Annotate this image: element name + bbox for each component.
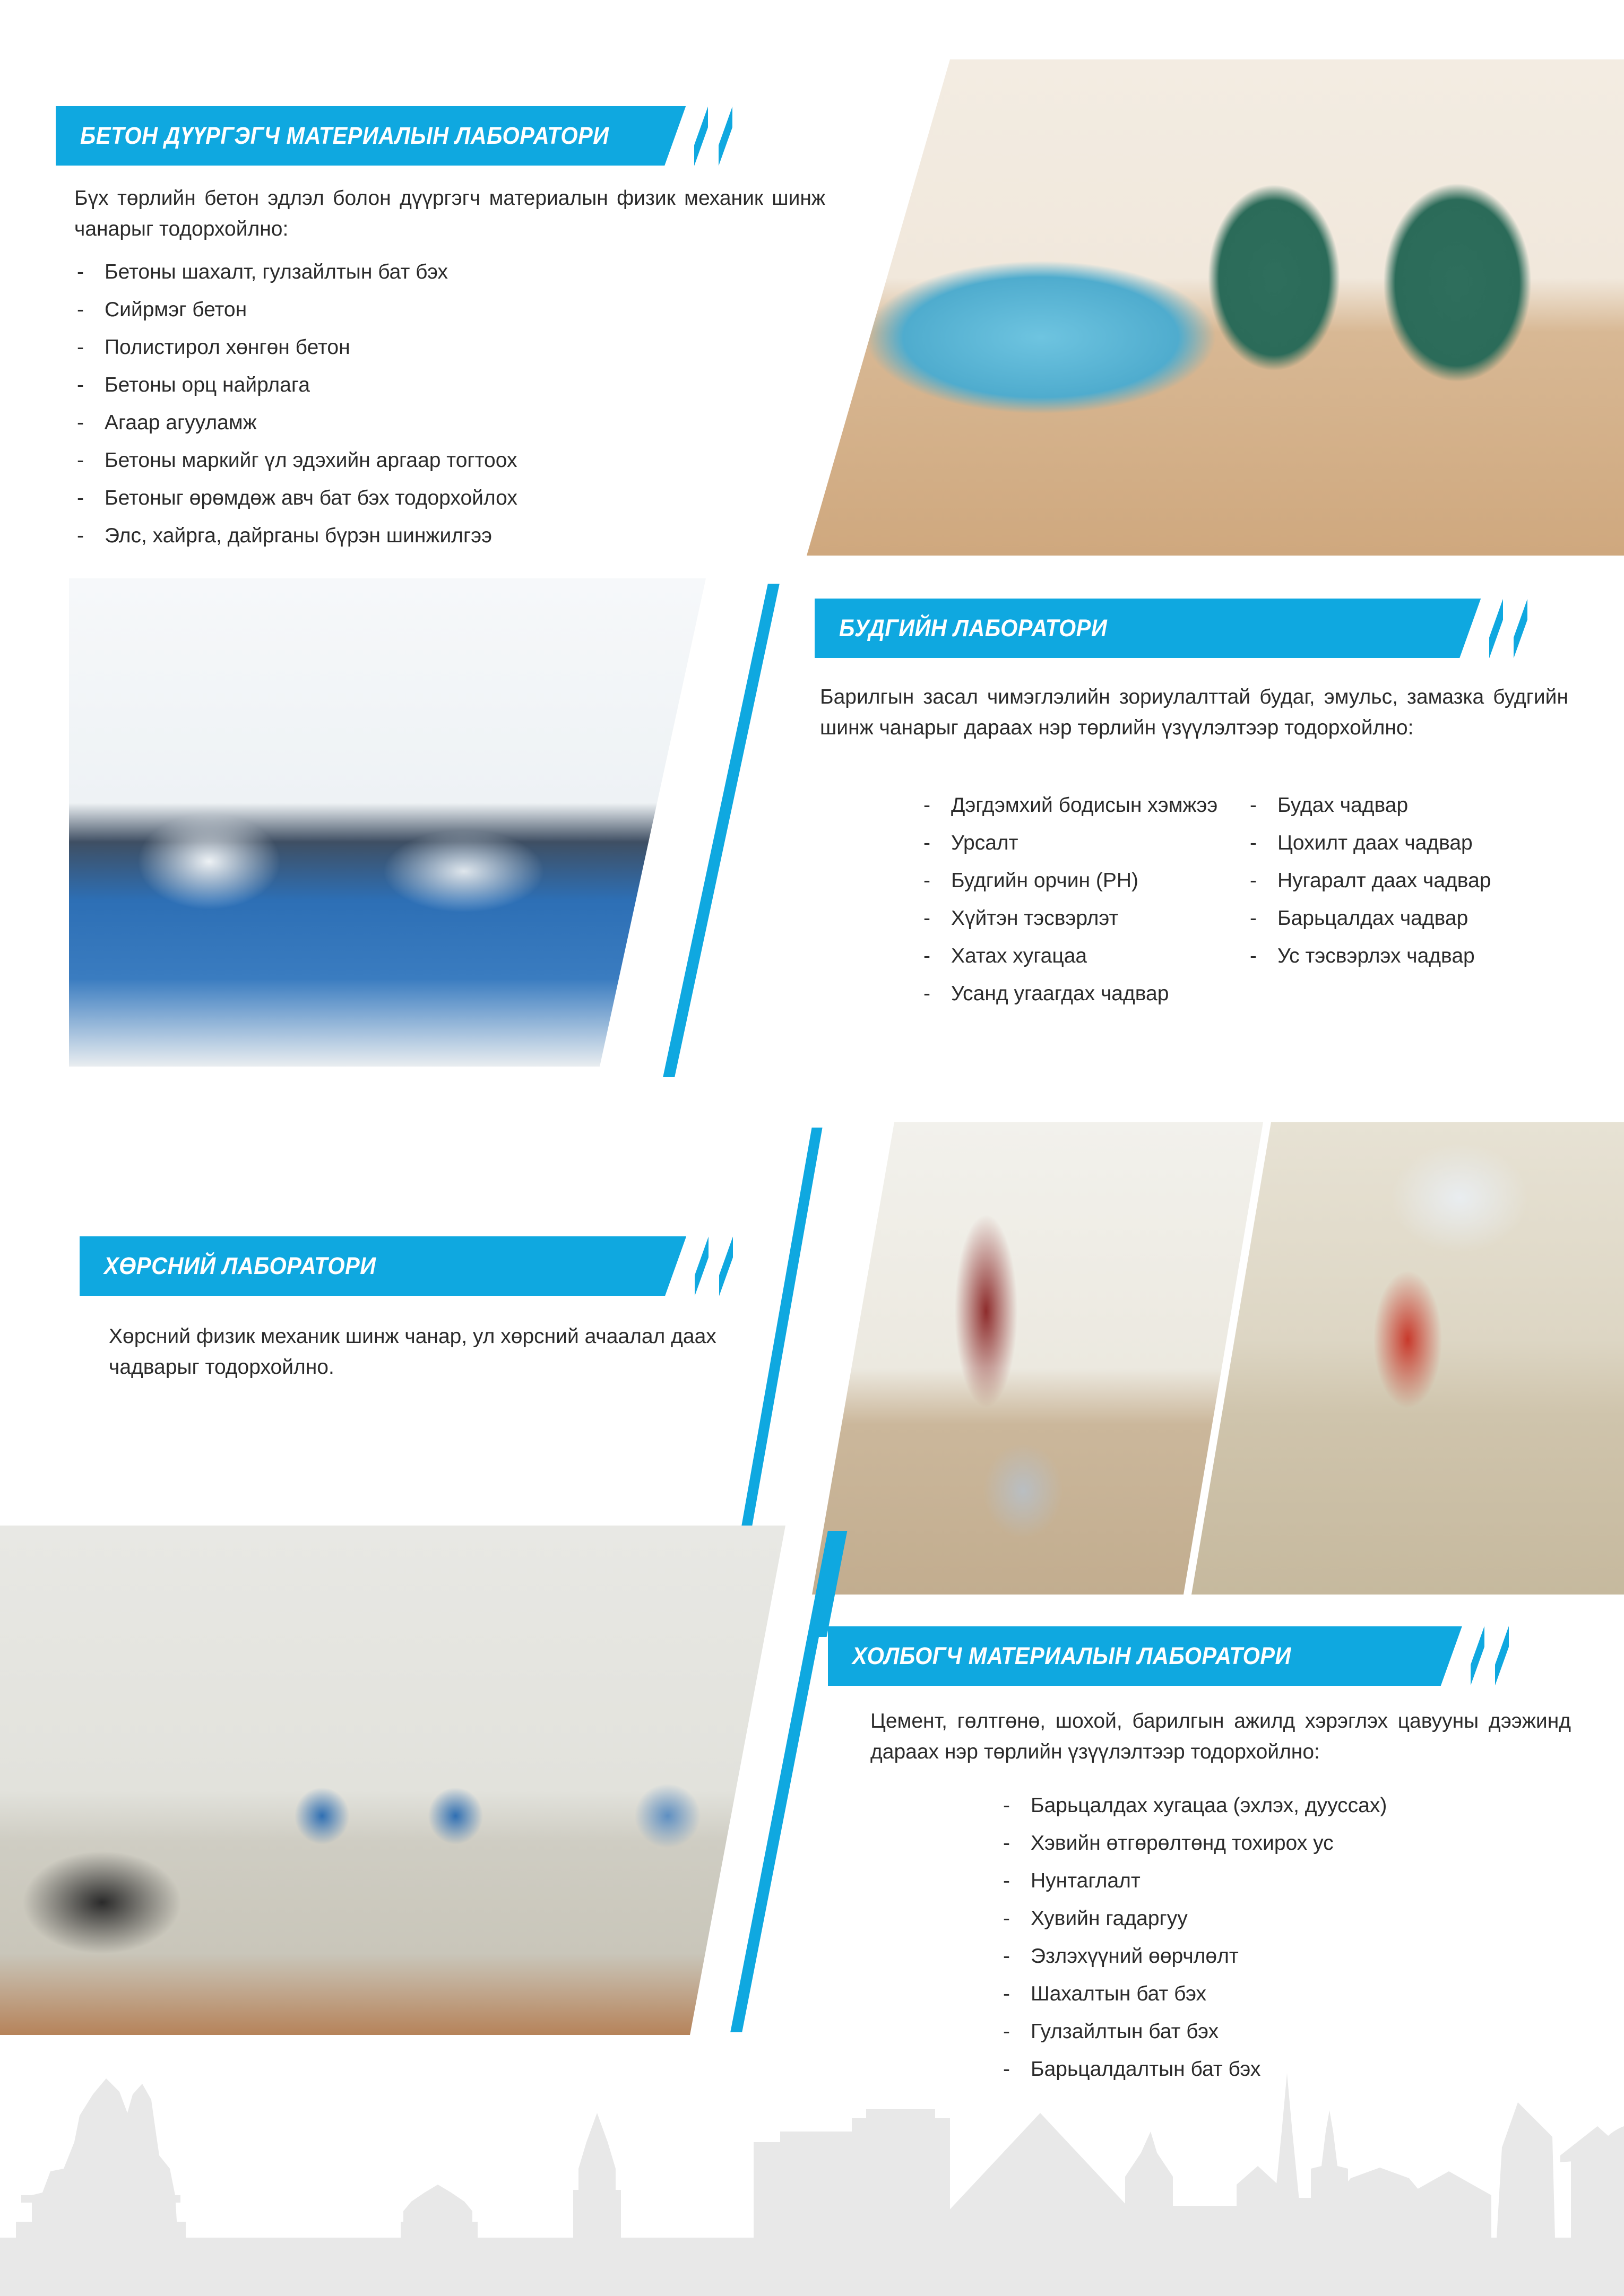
list-item: -Хүйтэн тэсвэрлэт [923,904,1237,934]
bullet-marker: - [1003,1904,1031,1934]
bullet-marker: - [923,941,951,972]
bullet-marker: - [77,257,105,288]
bullet-marker: - [77,521,105,551]
section-header-concrete: БЕТОН ДҮҮРГЭГЧ МАТЕРИАЛЫН ЛАБОРАТОРИ [56,106,732,166]
list-item-label: Хатах хугацаа [951,941,1237,972]
list-item: -Дэгдэмхий бодисын хэмжээ [923,791,1237,821]
soil-lab-photo-left [801,1122,1263,1595]
list-item: -Агаар агууламж [77,408,820,438]
binder-lab-photo [0,1526,785,2035]
list-item: -Бетоныг өрөмдөж авч бат бэх тодорхойлох [77,483,820,514]
list-item: -Усанд угаагдах чадвар [923,979,1237,1009]
soil-lab-photo-left-image [801,1122,1263,1595]
list-item: -Бетоны маркийг үл эдэхийн аргаар тогтоо… [77,446,820,476]
list-item: -Эзлэхүүний өөрчлөлт [1003,1942,1576,1972]
list-item-label: Сийрмэг бетон [105,295,820,325]
list-item: -Хэвийн өтгөрөлтөнд тохирох ус [1003,1829,1576,1859]
bullet-marker: - [1003,1791,1031,1821]
list-item-label: Шахалтын бат бэх [1031,1979,1576,2009]
bullet-marker: - [1250,791,1277,821]
bullet-marker: - [923,866,951,896]
list-item-label: Нунтаглалт [1031,1866,1576,1896]
binder-bullet-list: -Барьцалдах хугацаа (эхлэх, дууссах) -Хэ… [1003,1791,1576,2092]
section-title-concrete: БЕТОН ДҮҮРГЭГЧ МАТЕРИАЛЫН ЛАБОРАТОРИ [80,122,609,150]
bullet-marker: - [1003,1942,1031,1972]
concrete-intro-text: Бүх төрлийн бетон эдлэл болон дүүргэгч м… [74,183,825,244]
bullet-marker: - [923,828,951,859]
list-item: -Элс, хайрга, дайрганы бүрэн шинжилгээ [77,521,820,551]
section-header-bar: БУДГИЙН ЛАБОРАТОРИ [815,599,1481,658]
bullet-marker: - [1250,866,1277,896]
list-item: -Бетоны орц найрлага [77,370,820,401]
list-item-label: Бетоны шахалт, гулзайлтын бат бэх [105,257,820,288]
list-item: -Бетоны шахалт, гулзайлтын бат бэх [77,257,820,288]
list-item: -Нугаралт даах чадвар [1250,866,1568,896]
list-item: -Будгийн орчин (PH) [923,866,1237,896]
binder-lab-photo-image [0,1526,785,2035]
ulaanbaatar-skyline-silhouette [0,2063,1624,2296]
list-item-label: Бетоныг өрөмдөж авч бат бэх тодорхойлох [105,483,820,514]
list-item-label: Барьцалдах чадвар [1277,904,1568,934]
concrete-bullet-list: -Бетоны шахалт, гулзайлтын бат бэх -Сийр… [77,257,820,559]
list-item-label: Хэвийн өтгөрөлтөнд тохирох ус [1031,1829,1576,1859]
concrete-lab-photo [791,59,1624,556]
soil-lab-photo-right [1191,1122,1624,1595]
list-item: -Шахалтын бат бэх [1003,1979,1576,2009]
section-title-paint: БУДГИЙН ЛАБОРАТОРИ [839,614,1107,642]
brochure-page: БЕТОН ДҮҮРГЭГЧ МАТЕРИАЛЫН ЛАБОРАТОРИ Бүх… [0,0,1624,2296]
list-item: -Барьцалдах чадвар [1250,904,1568,934]
list-item: -Гулзайлтын бат бэх [1003,2017,1576,2047]
bullet-marker: - [1250,828,1277,859]
paint-intro-text: Барилгын засал чимэглэлийн зориулалттай … [820,682,1568,743]
concrete-lab-photo-image [791,59,1624,556]
section-header-bar: БЕТОН ДҮҮРГЭГЧ МАТЕРИАЛЫН ЛАБОРАТОРИ [56,106,686,166]
paint-lab-photo-image [69,578,706,1067]
header-slash-1 [1471,1626,1484,1686]
bullet-marker: - [923,791,951,821]
paint-bullet-list-right: -Будах чадвар -Цохилт даах чадвар -Нугар… [1250,791,1568,979]
list-item: -Ус тэсвэрлэх чадвар [1250,941,1568,972]
paint-lab-photo [69,578,706,1067]
bullet-marker: - [77,446,105,476]
section-header-soil: ХӨРСНИЙ ЛАБОРАТОРИ [80,1236,733,1296]
list-item-label: Бетоны маркийг үл эдэхийн аргаар тогтоох [105,446,820,476]
list-item-label: Бетоны орц найрлага [105,370,820,401]
bullet-marker: - [1003,1979,1031,2009]
list-item-label: Будах чадвар [1277,791,1568,821]
bullet-marker: - [1250,941,1277,972]
list-item-label: Гулзайлтын бат бэх [1031,2017,1576,2047]
list-item: -Нунтаглалт [1003,1866,1576,1896]
list-item-label: Эзлэхүүний өөрчлөлт [1031,1942,1576,1972]
header-slash-1 [694,106,708,166]
list-item-label: Урсалт [951,828,1237,859]
list-item-label: Будгийн орчин (PH) [951,866,1237,896]
section-header-bar: ХОЛБОГЧ МАТЕРИАЛЫН ЛАБОРАТОРИ [828,1626,1462,1686]
binder-intro-text: Цемент, гөлтгөнө, шохой, барилгын ажилд … [870,1706,1571,1767]
list-item-label: Барьцалдах хугацаа (эхлэх, дууссах) [1031,1791,1576,1821]
list-item: -Полистирол хөнгөн бетон [77,333,820,363]
bullet-marker: - [77,333,105,363]
header-slash-2 [719,106,732,166]
section-title-binder: ХОЛБОГЧ МАТЕРИАЛЫН ЛАБОРАТОРИ [852,1642,1291,1670]
list-item: -Будах чадвар [1250,791,1568,821]
list-item-label: Нугаралт даах чадвар [1277,866,1568,896]
bullet-marker: - [923,979,951,1009]
bullet-marker: - [77,483,105,514]
bullet-marker: - [77,370,105,401]
bullet-marker: - [77,408,105,438]
bullet-marker: - [1003,1866,1031,1896]
list-item-label: Усанд угаагдах чадвар [951,979,1237,1009]
list-item-label: Ус тэсвэрлэх чадвар [1277,941,1568,972]
list-item: -Сийрмэг бетон [77,295,820,325]
header-slash-1 [695,1236,709,1296]
section-header-bar: ХӨРСНИЙ ЛАБОРАТОРИ [80,1236,686,1296]
list-item-label: Цохилт даах чадвар [1277,828,1568,859]
bullet-marker: - [923,904,951,934]
list-item: -Барьцалдах хугацаа (эхлэх, дууссах) [1003,1791,1576,1821]
header-slash-2 [1495,1626,1509,1686]
list-item-label: Полистирол хөнгөн бетон [105,333,820,363]
list-item-label: Хүйтэн тэсвэрлэт [951,904,1237,934]
section-title-soil: ХӨРСНИЙ ЛАБОРАТОРИ [104,1252,376,1280]
soil-intro-text: Хөрсний физик механик шинж чанар, ул хөр… [109,1321,762,1382]
soil-lab-photo-right-image [1191,1122,1624,1595]
bullet-marker: - [1003,1829,1031,1859]
list-item: -Хатах хугацаа [923,941,1237,972]
list-item-label: Элс, хайрга, дайрганы бүрэн шинжилгээ [105,521,820,551]
bullet-marker: - [1003,2017,1031,2047]
list-item: -Хувийн гадаргуу [1003,1904,1576,1934]
bullet-marker: - [1250,904,1277,934]
header-slash-1 [1489,599,1503,658]
section-header-paint: БУДГИЙН ЛАБОРАТОРИ [815,599,1527,658]
header-slash-2 [1514,599,1527,658]
list-item-label: Агаар агууламж [105,408,820,438]
paint-bullet-list-left: -Дэгдэмхий бодисын хэмжээ -Урсалт -Будги… [923,791,1237,1017]
list-item: -Урсалт [923,828,1237,859]
list-item-label: Хувийн гадаргуу [1031,1904,1576,1934]
list-item-label: Дэгдэмхий бодисын хэмжээ [951,791,1237,821]
section-header-binder: ХОЛБОГЧ МАТЕРИАЛЫН ЛАБОРАТОРИ [828,1626,1509,1686]
header-slash-2 [719,1236,733,1296]
list-item: -Цохилт даах чадвар [1250,828,1568,859]
bullet-marker: - [77,295,105,325]
